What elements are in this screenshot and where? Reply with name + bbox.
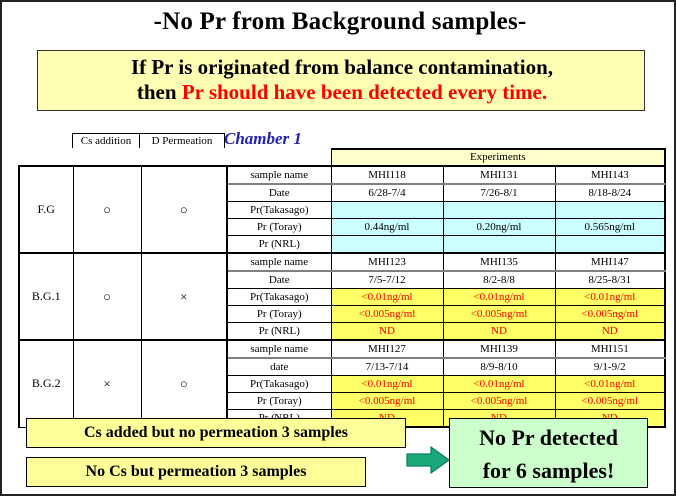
param-label-sample-name: sample name xyxy=(227,340,331,358)
cell-nrl-value xyxy=(555,236,665,254)
cell-takasago-value: <0.01ng/ml xyxy=(443,376,555,393)
cell-toray-value: <0.005ng/ml xyxy=(443,393,555,410)
param-label-sample-name: sample name xyxy=(227,166,331,184)
cell-toray-value: <0.005ng/ml xyxy=(443,306,555,323)
cell-sample-name: MHI135 xyxy=(443,253,555,271)
param-label-sample-name: sample name xyxy=(227,253,331,271)
param-label-takasago: Pr(Takasago) xyxy=(227,376,331,393)
header-cs-addition: Cs addition xyxy=(72,133,140,148)
conclusion-line-2: for 6 samples! xyxy=(450,454,647,487)
table-top-header-strip: Cs addition D Permeation xyxy=(72,133,225,148)
conclusion-line-1: No Pr detected xyxy=(450,421,647,454)
cell-sample-name: MHI139 xyxy=(443,340,555,358)
header-spacer xyxy=(19,149,331,166)
premise-line-2-prefix: then xyxy=(137,80,182,104)
param-label-toray: Pr (Toray) xyxy=(227,306,331,323)
cell-toray-value: <0.005ng/ml xyxy=(331,306,443,323)
slide-canvas: -No Pr from Background samples- If Pr is… xyxy=(0,0,676,496)
premise-line-1: If Pr is originated from balance contami… xyxy=(46,55,638,80)
cell-takasago-value xyxy=(331,202,443,219)
cell-toray-value: 0.565ng/ml xyxy=(555,219,665,236)
param-label-date: Date xyxy=(227,184,331,202)
cell-takasago-value: <0.01ng/ml xyxy=(555,376,665,393)
cs-addition-mark: × xyxy=(73,340,141,427)
cell-toray-value: 0.20ng/ml xyxy=(443,219,555,236)
cell-takasago-value: <0.01ng/ml xyxy=(555,289,665,306)
cell-toray-value: <0.005ng/ml xyxy=(555,306,665,323)
cell-sample-name: MHI131 xyxy=(443,166,555,184)
premise-line-2-highlight: Pr should have been detected every time. xyxy=(182,80,547,104)
param-label-toray: Pr (Toray) xyxy=(227,393,331,410)
cell-date: 8/9-8/10 xyxy=(443,358,555,376)
cell-date: 9/1-9/2 xyxy=(555,358,665,376)
results-table-container: ExperimentsF.G○○sample nameMHI118MHI131M… xyxy=(18,148,664,428)
premise-line-2: then Pr should have been detected every … xyxy=(46,80,638,105)
cell-date: 7/13-7/14 xyxy=(331,358,443,376)
cell-sample-name: MHI143 xyxy=(555,166,665,184)
param-label-takasago: Pr(Takasago) xyxy=(227,202,331,219)
cell-sample-name: MHI127 xyxy=(331,340,443,358)
cell-date: 7/5-7/12 xyxy=(331,271,443,289)
note-box-cs-added: Cs added but no permeation 3 samples xyxy=(26,418,406,448)
cell-sample-name: MHI123 xyxy=(331,253,443,271)
cell-nrl-value xyxy=(443,236,555,254)
premise-callout: If Pr is originated from balance contami… xyxy=(37,50,645,111)
experiments-header-row: Experiments xyxy=(19,149,665,166)
cell-takasago-value: <0.01ng/ml xyxy=(331,376,443,393)
d-permeation-mark: ○ xyxy=(141,340,227,427)
param-label-nrl: Pr (NRL) xyxy=(227,236,331,254)
param-label-nrl: Pr (NRL) xyxy=(227,323,331,341)
cell-takasago-value: <0.01ng/ml xyxy=(443,289,555,306)
cs-addition-mark: ○ xyxy=(73,253,141,340)
right-arrow-icon xyxy=(406,445,450,475)
cell-toray-value: <0.005ng/ml xyxy=(331,393,443,410)
cell-nrl-value xyxy=(331,236,443,254)
param-label-takasago: Pr(Takasago) xyxy=(227,289,331,306)
cell-date: 7/26-8/1 xyxy=(443,184,555,202)
table-row: B.G.2×○sample nameMHI127MHI139MHI151 xyxy=(19,340,665,358)
cell-date: 8/18-8/24 xyxy=(555,184,665,202)
group-label-fg: F.G xyxy=(19,166,73,253)
param-label-date: Date xyxy=(227,271,331,289)
cell-nrl-value: ND xyxy=(443,323,555,341)
cs-addition-mark: ○ xyxy=(73,166,141,253)
group-label-bg2: B.G.2 xyxy=(19,340,73,427)
header-experiments: Experiments xyxy=(331,149,665,166)
cell-toray-value: 0.44ng/ml xyxy=(331,219,443,236)
cell-date: 8/2-8/8 xyxy=(443,271,555,289)
d-permeation-mark: × xyxy=(141,253,227,340)
cell-takasago-value xyxy=(555,202,665,219)
cell-date: 6/28-7/4 xyxy=(331,184,443,202)
page-title: -No Pr from Background samples- xyxy=(2,8,676,36)
cell-sample-name: MHI118 xyxy=(331,166,443,184)
cell-nrl-value: ND xyxy=(555,323,665,341)
cell-takasago-value: <0.01ng/ml xyxy=(331,289,443,306)
cell-nrl-value: ND xyxy=(331,323,443,341)
cell-sample-name: MHI147 xyxy=(555,253,665,271)
chamber-label: Chamber 1 xyxy=(224,129,302,149)
d-permeation-mark: ○ xyxy=(141,166,227,253)
results-table: ExperimentsF.G○○sample nameMHI118MHI131M… xyxy=(18,148,666,428)
note-box-no-cs: No Cs but permeation 3 samples xyxy=(26,457,366,487)
cell-takasago-value xyxy=(443,202,555,219)
param-label-date: date xyxy=(227,358,331,376)
header-d-permeation: D Permeation xyxy=(139,133,225,148)
table-row: F.G○○sample nameMHI118MHI131MHI143 xyxy=(19,166,665,184)
cell-date: 8/25-8/31 xyxy=(555,271,665,289)
conclusion-box: No Pr detected for 6 samples! xyxy=(449,418,648,488)
table-row: B.G.1○×sample nameMHI123MHI135MHI147 xyxy=(19,253,665,271)
cell-toray-value: <0.005ng/ml xyxy=(555,393,665,410)
param-label-toray: Pr (Toray) xyxy=(227,219,331,236)
cell-sample-name: MHI151 xyxy=(555,340,665,358)
group-label-bg1: B.G.1 xyxy=(19,253,73,340)
